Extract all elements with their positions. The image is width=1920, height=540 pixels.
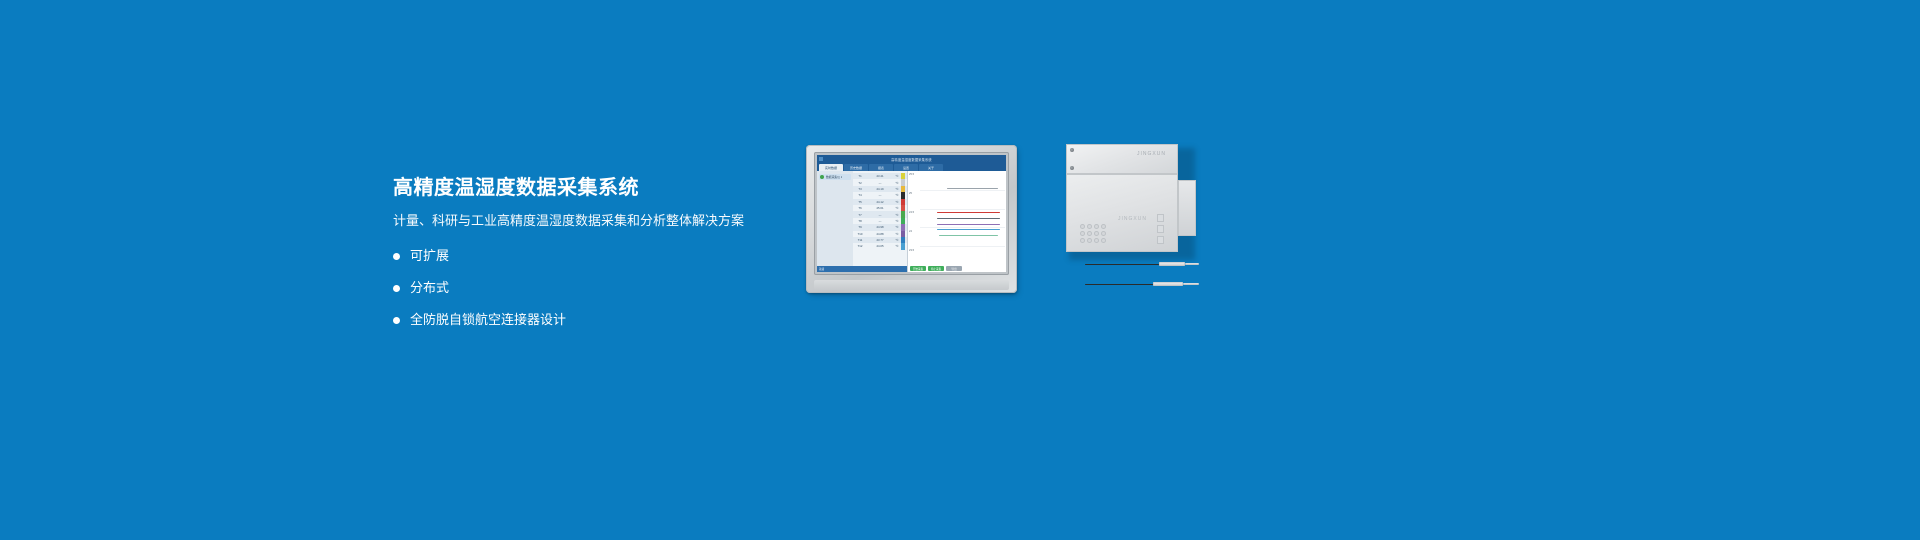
probe-barrel xyxy=(1153,282,1183,286)
cell-unit: ℃ xyxy=(893,232,901,236)
status-online-icon xyxy=(820,175,824,179)
connector-port-icon xyxy=(1094,231,1099,236)
sensor-probe-lower xyxy=(1085,282,1199,286)
cell-unit: ℃ xyxy=(893,219,901,223)
cell-channel: T3 xyxy=(853,187,867,191)
connector-port-icon xyxy=(1087,224,1092,229)
sensor-probe-upper xyxy=(1085,262,1199,266)
cell-unit: ℃ xyxy=(893,244,901,248)
tab-realtime[interactable]: 实时数据 xyxy=(819,164,843,171)
cell-channel: T9 xyxy=(853,225,867,229)
connector-port-icon xyxy=(1094,224,1099,229)
connector-port-icon xyxy=(1087,231,1092,236)
feature-list: 可扩展 分布式 全防脱自锁航空连接器设计 xyxy=(393,248,813,328)
logger-top-panel: JINGXUN xyxy=(1066,144,1178,174)
chart-series-t11 xyxy=(937,229,1000,230)
connector-port-icon xyxy=(1094,238,1099,243)
tab-settings[interactable]: 设置 xyxy=(894,164,918,171)
list-item: 全防脱自锁航空连接器设计 xyxy=(393,312,813,328)
cell-channel: T2 xyxy=(853,181,867,185)
connector-port-icon xyxy=(1080,231,1085,236)
stop-acquisition-button[interactable]: 停止采集 xyxy=(928,266,944,271)
cell-value: 23.41 xyxy=(867,174,893,178)
cell-unit: ℃ xyxy=(893,213,901,217)
app-status-bar: 就绪 xyxy=(817,266,907,272)
feature-label: 全防脱自锁航空连接器设计 xyxy=(410,312,566,328)
cell-value: 24.12 xyxy=(867,200,893,204)
logger-brand-label: JINGXUN xyxy=(1137,151,1166,157)
cell-channel: T8 xyxy=(853,219,867,223)
bullet-dot-icon xyxy=(393,285,400,292)
feature-label: 分布式 xyxy=(410,280,449,296)
cell-channel: T1 xyxy=(853,174,867,178)
cell-value: --- xyxy=(867,181,893,185)
bullet-dot-icon xyxy=(393,317,400,324)
tab-report[interactable]: 报表 xyxy=(869,164,893,171)
logger-body-panel: JINGXUN xyxy=(1066,174,1178,252)
probe-tip xyxy=(1183,283,1199,285)
tree-node-label: 数据采集仪 1 xyxy=(826,175,842,179)
logger-port-grid xyxy=(1080,224,1106,243)
y-tick: 23.5 xyxy=(909,249,914,252)
cell-channel: T10 xyxy=(853,232,867,236)
cell-unit: ℃ xyxy=(893,174,901,178)
panel-pc-product-image: 高精度温湿度数据采集系统 实时数据 历史数据 报表 设置 关于 数据采集仪 1 xyxy=(806,145,1021,295)
start-acquisition-button[interactable]: 开始采集 xyxy=(910,266,926,271)
cell-value: --- xyxy=(867,219,893,223)
cell-unit: ℃ xyxy=(893,206,901,210)
cell-unit: ℃ xyxy=(893,181,901,185)
monitor-base xyxy=(814,280,1009,290)
monitor-screen: 高精度温湿度数据采集系统 实时数据 历史数据 报表 设置 关于 数据采集仪 1 xyxy=(817,155,1006,272)
cell-unit: ℃ xyxy=(893,200,901,204)
cell-channel: T6 xyxy=(853,206,867,210)
connector-port-icon xyxy=(1101,231,1106,236)
app-tab-bar: 实时数据 历史数据 报表 设置 关于 xyxy=(817,163,1006,171)
cell-unit: ℃ xyxy=(893,238,901,242)
cell-channel: T4 xyxy=(853,193,867,197)
cell-channel: T5 xyxy=(853,200,867,204)
io-connector-icon xyxy=(1157,225,1164,233)
cell-channel: T7 xyxy=(853,213,867,217)
trend-chart: 25.5 25 24.5 24 23.5 xyxy=(907,171,1006,272)
data-logger-product-image: JINGXUN JINGXUN xyxy=(1066,144,1196,260)
cell-unit: ℃ xyxy=(893,225,901,229)
page-subtitle: 计量、科研与工业高精度温湿度数据采集和分析整体解决方案 xyxy=(393,212,813,230)
hero-banner: 高精度温湿度数据采集系统 计量、科研与工业高精度温湿度数据采集和分析整体解决方案… xyxy=(0,0,1920,540)
tab-about[interactable]: 关于 xyxy=(919,164,943,171)
io-connector-icon xyxy=(1157,236,1164,244)
chart-series-t5 xyxy=(937,212,1000,213)
cell-channel: T12 xyxy=(853,244,867,248)
app-logo-icon xyxy=(819,157,823,161)
status-label: 就绪 xyxy=(819,267,824,271)
cell-unit: ℃ xyxy=(893,187,901,191)
bullet-dot-icon xyxy=(393,253,400,260)
page-title: 高精度温湿度数据采集系统 xyxy=(393,176,813,200)
connector-port-icon xyxy=(1080,224,1085,229)
device-tree-pane: 数据采集仪 1 xyxy=(817,171,853,272)
monitor-inner-frame: 高精度温湿度数据采集系统 实时数据 历史数据 报表 设置 关于 数据采集仪 1 xyxy=(814,152,1009,275)
chart-plot-area xyxy=(920,172,1005,264)
connector-port-icon xyxy=(1101,224,1106,229)
cell-value: 24.88 xyxy=(867,232,893,236)
y-tick: 24 xyxy=(909,230,912,233)
chart-y-axis: 25.5 25 24.5 24 23.5 xyxy=(908,171,920,272)
logger-side-panel xyxy=(1178,180,1196,236)
y-tick: 25 xyxy=(909,192,912,195)
chart-series-t6 xyxy=(937,218,1000,219)
connector-port-icon xyxy=(1087,238,1092,243)
cell-value: 24.19 xyxy=(867,187,893,191)
probe-cable xyxy=(1085,284,1153,286)
cell-value: 24.05 xyxy=(867,244,893,248)
screw-icon xyxy=(1070,166,1074,170)
probe-tip xyxy=(1185,263,1199,265)
app-title: 高精度温湿度数据采集系统 xyxy=(891,157,932,162)
screw-icon xyxy=(1070,148,1074,152)
y-tick: 25.5 xyxy=(909,173,914,176)
cell-value: --- xyxy=(867,193,893,197)
tree-node-logger[interactable]: 数据采集仪 1 xyxy=(819,174,851,180)
channel-table: T1 23.41 ℃ T2 --- ℃ T3 xyxy=(853,171,907,272)
connector-port-icon xyxy=(1101,238,1106,243)
hero-copy: 高精度温湿度数据采集系统 计量、科研与工业高精度温湿度数据采集和分析整体解决方案… xyxy=(393,176,813,344)
chart-action-bar: 开始采集 停止采集 导出 xyxy=(908,265,1006,272)
feature-label: 可扩展 xyxy=(410,248,449,264)
table-row[interactable]: T12 24.05 ℃ xyxy=(853,243,907,249)
export-button[interactable]: 导出 xyxy=(946,266,962,271)
app-body: 数据采集仪 1 T1 23.41 ℃ T2 --- xyxy=(817,171,1006,272)
cell-color-swatch xyxy=(901,243,905,249)
list-item: 可扩展 xyxy=(393,248,813,264)
chart-series-t1 xyxy=(947,188,998,189)
y-tick: 24.5 xyxy=(909,211,914,214)
list-item: 分布式 xyxy=(393,280,813,296)
cell-value: --- xyxy=(867,213,893,217)
logger-brand-secondary-label: JINGXUN xyxy=(1118,216,1147,222)
connector-port-icon xyxy=(1080,238,1085,243)
io-connector-icon xyxy=(1157,214,1164,222)
cell-value: 23.77 xyxy=(867,238,893,242)
cell-channel: T11 xyxy=(853,238,867,242)
chart-series-t9 xyxy=(937,224,1000,225)
app-titlebar: 高精度温湿度数据采集系统 xyxy=(817,155,1006,163)
tab-history[interactable]: 历史数据 xyxy=(844,164,868,171)
chart-series-t12 xyxy=(939,235,999,236)
cell-value: 24.98 xyxy=(867,225,893,229)
logger-io-connectors xyxy=(1157,214,1164,244)
probe-barrel xyxy=(1159,262,1185,266)
cell-unit: ℃ xyxy=(893,193,901,197)
probe-cable xyxy=(1085,264,1159,266)
cell-value: 25.61 xyxy=(867,206,893,210)
